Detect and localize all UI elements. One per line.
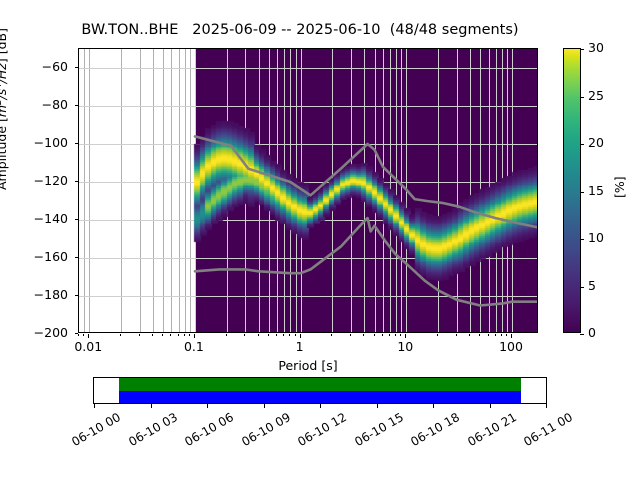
x-tick-mark (189, 334, 190, 336)
timeline-tick-mark (207, 404, 208, 408)
x-tick-mark (78, 334, 79, 336)
colorbar-tick-mark (580, 239, 584, 240)
noise-model-curve (195, 218, 538, 305)
timeline-tick-mark (320, 404, 321, 408)
y-tick-mark (75, 67, 79, 68)
y-axis-label: Amplitude [m2/s4/Hz] [dB] (0, 28, 9, 190)
x-tick-mark (139, 334, 140, 336)
x-tick-mark (350, 334, 351, 336)
x-tick-mark (374, 334, 375, 336)
colorbar-tick-label: 5 (588, 278, 596, 293)
x-tick-mark (501, 334, 502, 336)
noise-model-curve (195, 136, 538, 227)
colorbar-tick-label: 15 (588, 183, 604, 198)
x-tick-mark (456, 334, 457, 336)
x-tick-label: 0.1 (184, 339, 204, 354)
colorbar-tick-label: 20 (588, 135, 604, 150)
x-tick-mark (479, 334, 480, 336)
x-tick-mark (437, 334, 438, 336)
x-tick-mark (363, 334, 364, 336)
x-tick-mark (289, 334, 290, 336)
colorbar-tick-label: 25 (588, 88, 604, 103)
noise-model-curves (79, 49, 538, 333)
timeline-tick-label: 06-10 09 (239, 410, 293, 449)
x-tick-mark (395, 334, 396, 336)
x-tick-mark (268, 334, 269, 336)
x-tick-mark (244, 334, 245, 336)
x-tick-label: 100 (499, 339, 523, 354)
y-tick-mark (75, 143, 79, 144)
x-tick-label: 1 (296, 339, 304, 354)
data-coverage-green (119, 378, 521, 391)
timeline-tick-mark (94, 404, 95, 408)
x-tick-mark (382, 334, 383, 336)
colorbar-tick-mark (580, 334, 584, 335)
timeline-tick-label: 06-10 18 (408, 410, 462, 449)
y-tick-label: −180 (18, 287, 68, 302)
x-tick-mark (120, 334, 121, 336)
y-tick-mark (75, 219, 79, 220)
x-tick-mark (511, 334, 512, 338)
timeline-tick-label: 06-10 15 (352, 410, 406, 449)
colorbar-tick-mark (580, 144, 584, 145)
y-axis-label-text: Amplitude [m2/s4/Hz] [dB] (0, 28, 9, 190)
y-tick-mark (75, 295, 79, 296)
timeline-tick-mark (377, 404, 378, 408)
x-tick-mark (295, 334, 296, 336)
x-tick-mark (88, 334, 89, 338)
timeline-tick-mark (433, 404, 434, 408)
x-tick-mark (258, 334, 259, 336)
ppsd-axes (78, 48, 538, 333)
x-tick-mark (178, 334, 179, 336)
colorbar-tick-mark (580, 49, 584, 50)
timeline-tick-mark (151, 404, 152, 408)
timeline-tick-label: 06-10 21 (465, 410, 519, 449)
y-tick-label: −160 (18, 249, 68, 264)
x-tick-mark (283, 334, 284, 336)
x-tick-mark (331, 334, 332, 336)
x-tick-mark (170, 334, 171, 336)
timeline-tick-mark (490, 404, 491, 408)
x-tick-mark (152, 334, 153, 336)
data-coverage-timeline (93, 377, 547, 404)
y-tick-label: −60 (18, 59, 68, 74)
ppsd-figure: BW.TON..BHE 2025-06-09 -- 2025-06-10 (48… (0, 0, 640, 480)
x-tick-mark (194, 334, 195, 338)
y-tick-label: −80 (18, 97, 68, 112)
colorbar-label: [%] (612, 176, 627, 198)
figure-title: BW.TON..BHE 2025-06-09 -- 2025-06-10 (48… (0, 22, 600, 38)
colorbar-tick-label: 30 (588, 40, 604, 55)
y-tick-mark (75, 181, 79, 182)
y-tick-mark (75, 105, 79, 106)
x-tick-mark (495, 334, 496, 336)
colorbar-tick-mark (580, 97, 584, 98)
y-tick-label: −140 (18, 211, 68, 226)
timeline-tick-mark (264, 404, 265, 408)
y-tick-label: −100 (18, 135, 68, 150)
x-tick-mark (469, 334, 470, 336)
timeline-tick-label: 06-10 03 (126, 410, 180, 449)
x-tick-mark (488, 334, 489, 336)
y-tick-mark (75, 257, 79, 258)
timeline-tick-label: 06-11 00 (521, 410, 575, 449)
y-tick-label: −200 (18, 325, 68, 340)
colorbar-tick-mark (580, 192, 584, 193)
timeline-tick-label: 06-10 00 (69, 410, 123, 449)
timeline-tick-mark (546, 404, 547, 408)
timeline-ticks: 06-10 0006-10 0306-10 0606-10 0906-10 12… (93, 404, 547, 474)
colorbar (563, 48, 581, 333)
colorbar-tick-label: 0 (588, 325, 596, 340)
timeline-tick-label: 06-10 12 (295, 410, 349, 449)
x-tick-mark (226, 334, 227, 336)
x-tick-mark (389, 334, 390, 336)
x-tick-mark (83, 334, 84, 336)
x-tick-mark (300, 334, 301, 338)
x-tick-label: 10 (397, 339, 413, 354)
timeline-tick-label: 06-10 06 (182, 410, 236, 449)
x-tick-mark (400, 334, 401, 336)
x-axis-label: Period [s] (78, 358, 538, 373)
x-tick-mark (506, 334, 507, 336)
x-tick-label: 0.01 (74, 339, 102, 354)
x-tick-mark (162, 334, 163, 336)
y-tick-label: −120 (18, 173, 68, 188)
data-coverage-blue (119, 391, 521, 404)
x-tick-mark (276, 334, 277, 336)
x-tick-mark (184, 334, 185, 336)
colorbar-tick-label: 10 (588, 230, 604, 245)
x-tick-mark (405, 334, 406, 338)
colorbar-tick-mark (580, 287, 584, 288)
